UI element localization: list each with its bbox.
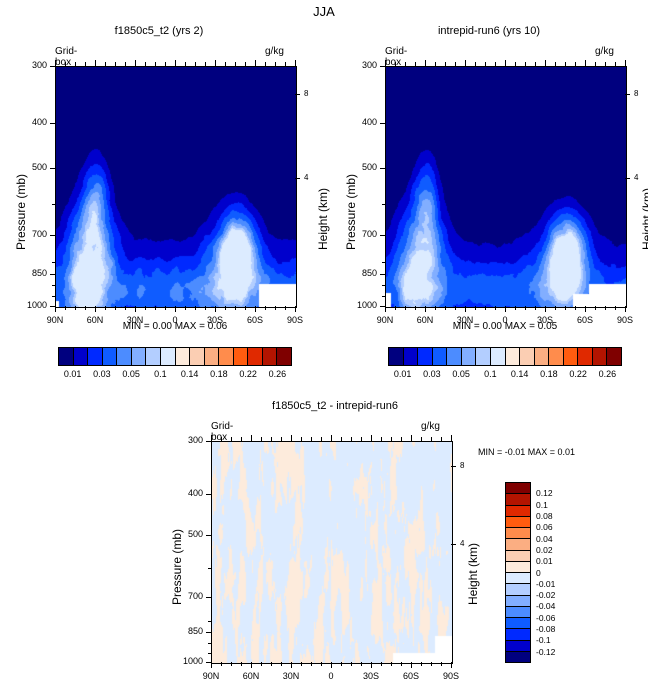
panel-right-plot-area[interactable] xyxy=(385,66,627,308)
panel-right-y2-axis-title: Height (km) xyxy=(640,188,648,250)
x-minor-tick xyxy=(525,306,526,310)
x-top-tick xyxy=(231,437,232,441)
x-tick xyxy=(625,306,626,312)
colorbar-tick-label: 0.01 xyxy=(64,369,82,379)
x-top-tick xyxy=(495,62,496,66)
colorbar-cell xyxy=(506,628,530,639)
panel-right-colorbar[interactable] xyxy=(388,347,622,366)
panel-left-plot-area[interactable] xyxy=(55,66,297,308)
y-tick-label: 1000 xyxy=(173,656,203,666)
colorbar-tick-label: -0.02 xyxy=(536,590,576,600)
x-tick-label: 90S xyxy=(431,671,471,681)
colorbar-cell xyxy=(506,572,530,583)
panel-right-units-label: g/kg xyxy=(595,46,614,57)
x-top-tick xyxy=(381,437,382,441)
x-minor-tick xyxy=(125,306,126,310)
y-tick xyxy=(206,441,211,442)
colorbar-tick-label: 0.03 xyxy=(423,369,441,379)
x-minor-tick xyxy=(241,662,242,666)
colorbar-tick-label: 0.26 xyxy=(599,369,617,379)
x-tick xyxy=(175,306,176,312)
y2-tick-label: 8 xyxy=(304,89,308,98)
x-minor-tick xyxy=(615,306,616,310)
panel-diff-colorbar[interactable] xyxy=(505,482,531,663)
x-top-tick xyxy=(605,62,606,66)
x-minor-tick xyxy=(115,306,116,310)
y-tick-label: 1000 xyxy=(17,300,47,310)
x-minor-tick xyxy=(105,306,106,310)
panel-left-title: f1850c5_t2 (yrs 2) xyxy=(28,25,290,37)
y-tick-label: 700 xyxy=(173,591,203,601)
x-top-tick xyxy=(565,62,566,66)
x-tick-label: 30N xyxy=(271,671,311,681)
colorbar-cell xyxy=(446,348,461,365)
x-minor-tick xyxy=(431,662,432,666)
x-top-tick xyxy=(415,62,416,66)
y-minor-tick xyxy=(382,296,385,297)
y-tick xyxy=(206,494,211,495)
x-minor-tick xyxy=(275,306,276,310)
colorbar-tick-label: 0.01 xyxy=(536,556,576,566)
colorbar-cell xyxy=(577,348,592,365)
colorbar-tick-label: 0.22 xyxy=(569,369,587,379)
x-top-tick xyxy=(85,62,86,66)
y2-tick xyxy=(451,544,456,545)
y2-tick-label: 4 xyxy=(634,173,638,182)
colorbar-tick-label: 0.06 xyxy=(536,522,576,532)
x-minor-tick xyxy=(535,306,536,310)
colorbar-cell xyxy=(534,348,549,365)
colorbar-cell xyxy=(247,348,262,365)
y2-tick xyxy=(625,178,630,179)
x-top-tick xyxy=(575,62,576,66)
colorbar-cell xyxy=(417,348,432,365)
colorbar-tick-label: 0.08 xyxy=(536,511,576,521)
y-tick xyxy=(206,632,211,633)
y2-tick xyxy=(625,94,630,95)
x-minor-tick xyxy=(565,306,566,310)
x-top-tick xyxy=(215,60,216,66)
y-minor-tick xyxy=(382,285,385,286)
y2-tick-label: 8 xyxy=(460,461,464,470)
y-minor-tick xyxy=(208,653,211,654)
panel-diff-plot-area[interactable] xyxy=(211,441,453,664)
colorbar-tick-label: -0.12 xyxy=(536,647,576,657)
x-tick xyxy=(255,306,256,312)
x-top-tick xyxy=(515,62,516,66)
panel-diff-units-label: g/kg xyxy=(421,421,440,432)
x-tick xyxy=(465,306,466,312)
x-tick-label: 90N xyxy=(191,671,231,681)
colorbar-cell xyxy=(548,348,563,365)
x-top-tick xyxy=(331,435,332,441)
colorbar-cell xyxy=(506,527,530,538)
x-tick-label: 30S xyxy=(351,671,391,681)
y2-tick-label: 4 xyxy=(460,539,464,548)
colorbar-cell xyxy=(73,348,88,365)
colorbar-cell xyxy=(506,550,530,561)
x-top-tick xyxy=(351,437,352,441)
colorbar-cell xyxy=(461,348,476,365)
x-top-tick xyxy=(421,437,422,441)
x-tick-label: 0 xyxy=(311,671,351,681)
colorbar-tick-label: 0.01 xyxy=(394,369,412,379)
x-top-tick xyxy=(391,437,392,441)
x-top-tick xyxy=(211,435,212,441)
x-minor-tick xyxy=(261,662,262,666)
y-minor-tick xyxy=(52,204,55,205)
x-top-tick xyxy=(95,60,96,66)
x-top-tick xyxy=(451,435,452,441)
x-top-tick xyxy=(255,60,256,66)
y-tick-label: 500 xyxy=(17,162,47,172)
x-top-tick xyxy=(585,60,586,66)
colorbar-tick-label: 0 xyxy=(536,568,576,578)
colorbar-cell xyxy=(87,348,102,365)
y-tick xyxy=(380,66,385,67)
x-minor-tick xyxy=(555,306,556,310)
x-minor-tick xyxy=(401,662,402,666)
y-tick-label: 300 xyxy=(173,435,203,445)
x-minor-tick xyxy=(395,306,396,310)
x-minor-tick xyxy=(595,306,596,310)
x-top-tick xyxy=(165,62,166,66)
x-minor-tick xyxy=(475,306,476,310)
x-top-tick xyxy=(241,437,242,441)
colorbar-tick-label: 0.18 xyxy=(210,369,228,379)
colorbar-tick-label: 0.02 xyxy=(536,545,576,555)
y-tick-label: 1000 xyxy=(347,300,377,310)
x-top-tick xyxy=(475,62,476,66)
x-minor-tick xyxy=(155,306,156,310)
y-tick-label: 400 xyxy=(173,488,203,498)
colorbar-cell xyxy=(506,505,530,516)
colorbar-cell xyxy=(276,348,291,365)
y-tick-label: 700 xyxy=(17,229,47,239)
x-minor-tick xyxy=(361,662,362,666)
colorbar-tick-label: 0.05 xyxy=(452,369,470,379)
colorbar-cell xyxy=(506,538,530,549)
x-top-tick xyxy=(125,62,126,66)
colorbar-cell xyxy=(506,583,530,594)
panel-left-stats: MIN = 0.00 MAX = 0.06 xyxy=(55,321,295,332)
x-minor-tick xyxy=(221,662,222,666)
x-tick xyxy=(371,662,372,668)
colorbar-cell xyxy=(131,348,146,365)
x-minor-tick xyxy=(455,306,456,310)
x-minor-tick xyxy=(391,662,392,666)
x-minor-tick xyxy=(495,306,496,310)
colorbar-tick-label: 0.04 xyxy=(536,534,576,544)
x-minor-tick xyxy=(435,306,436,310)
x-minor-tick xyxy=(145,306,146,310)
x-top-tick xyxy=(505,60,506,66)
x-top-tick xyxy=(175,60,176,66)
y-minor-tick xyxy=(52,296,55,297)
panel-left-colorbar-labels: 0.010.030.050.10.140.180.220.26 xyxy=(58,369,292,383)
x-top-tick xyxy=(395,62,396,66)
x-top-tick xyxy=(251,435,252,441)
colorbar-cell xyxy=(116,348,131,365)
x-tick xyxy=(411,662,412,668)
colorbar-tick-label: 0.03 xyxy=(93,369,111,379)
panel-left-colorbar[interactable] xyxy=(58,347,292,366)
panel-diff-stats: MIN = -0.01 MAX = 0.01 xyxy=(478,447,575,457)
x-top-tick xyxy=(371,435,372,441)
colorbar-cell xyxy=(506,483,530,493)
x-top-tick xyxy=(135,60,136,66)
y-tick-label: 300 xyxy=(17,60,47,70)
panel-diff-y2-axis-title: Height (km) xyxy=(466,543,480,605)
x-top-tick xyxy=(485,62,486,66)
x-minor-tick xyxy=(165,306,166,310)
x-top-tick xyxy=(465,60,466,66)
x-top-tick xyxy=(235,62,236,66)
colorbar-tick-label: -0.04 xyxy=(536,601,576,611)
y-tick-label: 400 xyxy=(347,117,377,127)
x-top-tick xyxy=(295,60,296,66)
y-tick-label: 500 xyxy=(173,529,203,539)
x-top-tick xyxy=(431,437,432,441)
x-minor-tick xyxy=(445,306,446,310)
x-tick xyxy=(135,306,136,312)
y-tick xyxy=(380,274,385,275)
colorbar-tick-label: -0.01 xyxy=(536,579,576,589)
colorbar-tick-label: -0.1 xyxy=(536,635,576,645)
colorbar-cell xyxy=(59,348,73,365)
x-minor-tick xyxy=(281,662,282,666)
colorbar-cell xyxy=(505,348,520,365)
y-tick-label: 850 xyxy=(17,268,47,278)
y-minor-tick xyxy=(208,568,211,569)
colorbar-cell xyxy=(389,348,403,365)
colorbar-cell xyxy=(592,348,607,365)
y2-tick xyxy=(295,94,300,95)
x-top-tick xyxy=(205,62,206,66)
x-top-tick xyxy=(401,437,402,441)
x-top-tick xyxy=(245,62,246,66)
x-top-tick xyxy=(55,60,56,66)
x-minor-tick xyxy=(185,306,186,310)
x-top-tick xyxy=(525,62,526,66)
x-minor-tick xyxy=(515,306,516,310)
x-tick xyxy=(385,306,386,312)
colorbar-tick-label: 0.14 xyxy=(511,369,529,379)
x-minor-tick xyxy=(605,306,606,310)
x-top-tick xyxy=(545,60,546,66)
x-top-tick xyxy=(275,62,276,66)
y-tick-label: 400 xyxy=(17,117,47,127)
x-tick xyxy=(505,306,506,312)
x-top-tick xyxy=(445,62,446,66)
x-minor-tick xyxy=(351,662,352,666)
x-minor-tick xyxy=(421,662,422,666)
x-minor-tick xyxy=(405,306,406,310)
y-tick xyxy=(206,597,211,598)
colorbar-cell xyxy=(506,561,530,572)
x-tick xyxy=(95,306,96,312)
x-top-tick xyxy=(535,62,536,66)
x-top-tick xyxy=(185,62,186,66)
y-tick-label: 850 xyxy=(347,268,377,278)
y-tick xyxy=(50,168,55,169)
x-top-tick xyxy=(195,62,196,66)
colorbar-tick-label: 0.14 xyxy=(181,369,199,379)
x-tick xyxy=(55,306,56,312)
colorbar-cell xyxy=(563,348,578,365)
x-top-tick xyxy=(341,437,342,441)
colorbar-cell xyxy=(189,348,204,365)
x-minor-tick xyxy=(271,662,272,666)
colorbar-cell xyxy=(403,348,418,365)
colorbar-tick-label: -0.06 xyxy=(536,613,576,623)
x-minor-tick xyxy=(415,306,416,310)
x-minor-tick xyxy=(75,306,76,310)
y-tick xyxy=(380,235,385,236)
colorbar-cell xyxy=(506,651,530,662)
x-tick xyxy=(451,662,452,668)
x-tick xyxy=(251,662,252,668)
x-top-tick xyxy=(105,62,106,66)
colorbar-tick-label: 0.12 xyxy=(536,488,576,498)
colorbar-cell xyxy=(102,348,117,365)
colorbar-tick-label: 0.22 xyxy=(239,369,257,379)
x-top-tick xyxy=(411,435,412,441)
x-top-tick xyxy=(555,62,556,66)
colorbar-tick-label: 0.26 xyxy=(269,369,287,379)
colorbar-cell xyxy=(262,348,277,365)
x-top-tick xyxy=(271,437,272,441)
y-tick xyxy=(50,235,55,236)
colorbar-cell xyxy=(160,348,175,365)
y-minor-tick xyxy=(382,262,385,263)
x-minor-tick xyxy=(231,662,232,666)
x-minor-tick xyxy=(245,306,246,310)
x-tick xyxy=(331,662,332,668)
panel-right-colorbar-labels: 0.010.030.050.10.140.180.220.26 xyxy=(388,369,622,383)
panel-diff-title: f1850c5_t2 - intrepid-run6 xyxy=(185,400,485,412)
x-top-tick xyxy=(155,62,156,66)
colorbar-cell xyxy=(506,617,530,628)
x-minor-tick xyxy=(381,662,382,666)
panel-diff-colorbar-labels: 0.120.10.080.060.040.020.010-0.01-0.02-0… xyxy=(536,482,580,663)
x-top-tick xyxy=(75,62,76,66)
x-minor-tick xyxy=(65,306,66,310)
x-top-tick xyxy=(435,62,436,66)
x-minor-tick xyxy=(235,306,236,310)
x-minor-tick xyxy=(285,306,286,310)
colorbar-cell xyxy=(204,348,219,365)
y-tick xyxy=(380,123,385,124)
y-tick-label: 500 xyxy=(347,162,377,172)
colorbar-cell xyxy=(506,640,530,651)
x-tick xyxy=(585,306,586,312)
x-minor-tick xyxy=(485,306,486,310)
figure-season-title: JJA xyxy=(0,3,648,21)
y-tick xyxy=(50,274,55,275)
colorbar-cell xyxy=(506,606,530,617)
colorbar-cell xyxy=(432,348,447,365)
x-tick-label: 60N xyxy=(231,671,271,681)
x-top-tick xyxy=(595,62,596,66)
x-minor-tick xyxy=(85,306,86,310)
x-top-tick xyxy=(65,62,66,66)
colorbar-tick-label: 0.18 xyxy=(540,369,558,379)
x-top-tick xyxy=(311,437,312,441)
colorbar-tick-label: 0.05 xyxy=(122,369,140,379)
panel-right-stats: MIN = 0.00 MAX = 0.05 xyxy=(385,321,625,332)
x-top-tick xyxy=(265,62,266,66)
y-minor-tick xyxy=(382,204,385,205)
colorbar-cell xyxy=(475,348,490,365)
x-top-tick xyxy=(405,62,406,66)
y2-tick xyxy=(451,466,456,467)
x-top-tick xyxy=(145,62,146,66)
colorbar-cell xyxy=(233,348,248,365)
x-top-tick xyxy=(321,437,322,441)
colorbar-cell xyxy=(145,348,160,365)
y-minor-tick xyxy=(52,262,55,263)
y-tick-label: 700 xyxy=(347,229,377,239)
colorbar-cell xyxy=(506,493,530,504)
panel-left-y2-axis-title: Height (km) xyxy=(316,188,330,250)
x-minor-tick xyxy=(575,306,576,310)
x-top-tick xyxy=(225,62,226,66)
colorbar-cell xyxy=(506,595,530,606)
y2-tick-label: 8 xyxy=(634,89,638,98)
y-tick xyxy=(380,168,385,169)
x-tick xyxy=(295,306,296,312)
x-minor-tick xyxy=(441,662,442,666)
colorbar-cell xyxy=(606,348,621,365)
x-minor-tick xyxy=(321,662,322,666)
x-tick xyxy=(291,662,292,668)
panel-right-title: intrepid-run6 (yrs 10) xyxy=(358,25,620,37)
x-minor-tick xyxy=(205,306,206,310)
x-minor-tick xyxy=(311,662,312,666)
x-top-tick xyxy=(285,62,286,66)
x-minor-tick xyxy=(265,306,266,310)
x-minor-tick xyxy=(341,662,342,666)
colorbar-tick-label: 0.1 xyxy=(536,500,576,510)
x-minor-tick xyxy=(195,306,196,310)
colorbar-cell xyxy=(218,348,233,365)
y-minor-tick xyxy=(52,285,55,286)
x-top-tick xyxy=(361,437,362,441)
panel-left-units-label: g/kg xyxy=(265,46,284,57)
x-minor-tick xyxy=(301,662,302,666)
x-top-tick xyxy=(301,437,302,441)
x-tick xyxy=(215,306,216,312)
x-top-tick xyxy=(385,60,386,66)
x-top-tick xyxy=(261,437,262,441)
y2-tick-label: 4 xyxy=(304,173,308,182)
colorbar-tick-label: -0.08 xyxy=(536,624,576,634)
x-top-tick xyxy=(425,60,426,66)
x-top-tick xyxy=(281,437,282,441)
y-tick-label: 300 xyxy=(347,60,377,70)
y-tick xyxy=(50,123,55,124)
x-top-tick xyxy=(115,62,116,66)
x-tick-label: 60S xyxy=(391,671,431,681)
colorbar-cell xyxy=(490,348,505,365)
y-tick xyxy=(206,535,211,536)
y2-tick xyxy=(295,178,300,179)
y-tick-label: 850 xyxy=(173,626,203,636)
colorbar-tick-label: 0.1 xyxy=(484,369,497,379)
colorbar-cell xyxy=(519,348,534,365)
colorbar-tick-label: 0.1 xyxy=(154,369,167,379)
